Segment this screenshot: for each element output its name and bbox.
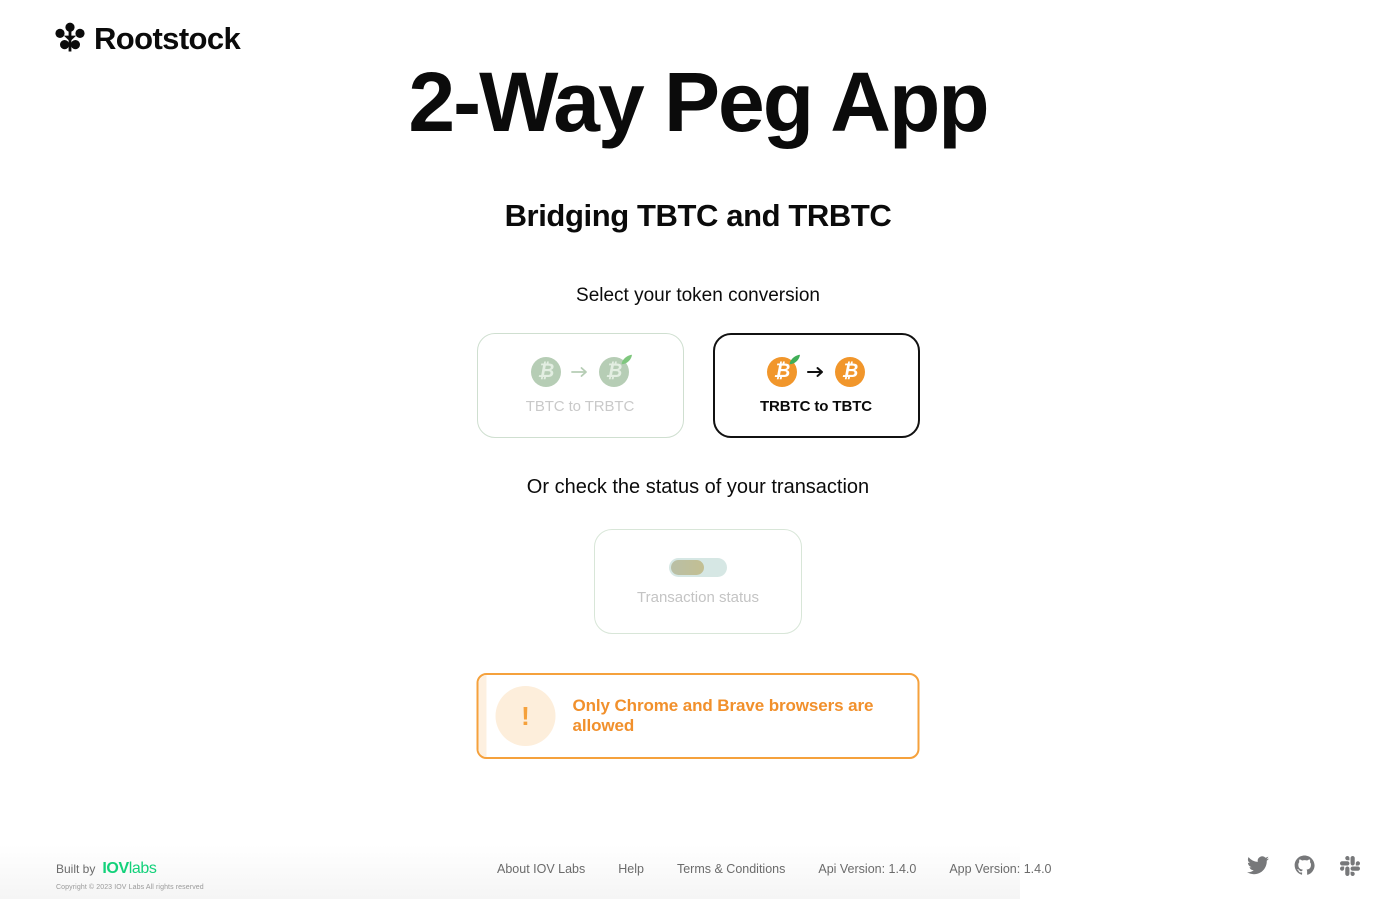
conversion-option-trbtc-to-tbtc[interactable]: ₿ ₿ TRBTC to TBTC xyxy=(713,333,920,438)
page-subtitle: Bridging TBTC and TRBTC xyxy=(0,198,1396,234)
brand-logo[interactable]: Rootstock xyxy=(55,22,240,54)
browser-warning-banner: ! Only Chrome and Brave browsers are all… xyxy=(477,673,920,759)
bitcoin-coin-icon: ₿ xyxy=(531,357,561,387)
conversion-option-label: TBTC to TRBTC xyxy=(526,398,634,415)
bitcoin-coin-icon: ₿ xyxy=(835,357,865,387)
api-version-label: Api Version: 1.4.0 xyxy=(818,862,916,876)
conversion-option-label: TRBTC to TBTC xyxy=(760,398,872,415)
conversion-options: ₿ ₿ TBTC to TRBTC ₿ xyxy=(0,333,1396,438)
github-icon[interactable] xyxy=(1294,855,1315,876)
footer-branding: Built by IOVlabs Copyright © 2023 IOV La… xyxy=(56,861,204,891)
iovlabs-logo-bold: IOV xyxy=(102,860,128,877)
built-by-label: Built by xyxy=(56,862,95,876)
transaction-status-label: Transaction status xyxy=(637,589,759,606)
exclamation-icon: ! xyxy=(496,686,556,746)
conversion-prompt: Select your token conversion xyxy=(0,285,1396,307)
conversion-icons: ₿ ₿ xyxy=(767,356,865,388)
brand-name: Rootstock xyxy=(94,23,240,54)
leaf-icon xyxy=(788,354,801,365)
arrow-right-icon xyxy=(570,363,590,381)
footer-link-terms-and-conditions[interactable]: Terms & Conditions xyxy=(677,862,785,876)
transaction-status-card[interactable]: Transaction status xyxy=(594,529,802,634)
warning-accent-bar xyxy=(479,675,487,757)
rbtc-coin-icon: ₿ xyxy=(599,357,629,387)
status-prompt: Or check the status of your transaction xyxy=(0,476,1396,499)
footer-links: About IOV Labs Help Terms & Conditions A… xyxy=(497,862,1052,876)
warning-message: Only Chrome and Brave browsers are allow… xyxy=(573,696,918,736)
conversion-option-tbtc-to-trbtc[interactable]: ₿ ₿ TBTC to TRBTC xyxy=(477,333,684,438)
page-title: 2-Way Peg App xyxy=(0,58,1396,146)
iovlabs-logo-light: labs xyxy=(129,860,157,877)
footer-link-help[interactable]: Help xyxy=(618,862,644,876)
toggle-pill-icon xyxy=(669,558,727,577)
page-footer: Built by IOVlabs Copyright © 2023 IOV La… xyxy=(0,829,1396,899)
leaf-icon xyxy=(620,354,633,365)
rbtc-coin-icon: ₿ xyxy=(767,357,797,387)
twitter-icon[interactable] xyxy=(1247,856,1269,875)
slack-icon[interactable] xyxy=(1340,856,1360,876)
arrow-right-icon xyxy=(806,363,826,381)
footer-link-about-iov-labs[interactable]: About IOV Labs xyxy=(497,862,585,876)
copyright-text: Copyright © 2023 IOV Labs All rights res… xyxy=(56,884,204,891)
footer-social-links xyxy=(1247,855,1360,876)
built-by-row: Built by IOVlabs xyxy=(56,861,204,877)
app-version-label: App Version: 1.4.0 xyxy=(949,862,1051,876)
conversion-icons: ₿ ₿ xyxy=(531,356,629,388)
rootstock-flower-icon xyxy=(55,22,85,54)
iovlabs-logo[interactable]: IOVlabs xyxy=(102,861,156,877)
